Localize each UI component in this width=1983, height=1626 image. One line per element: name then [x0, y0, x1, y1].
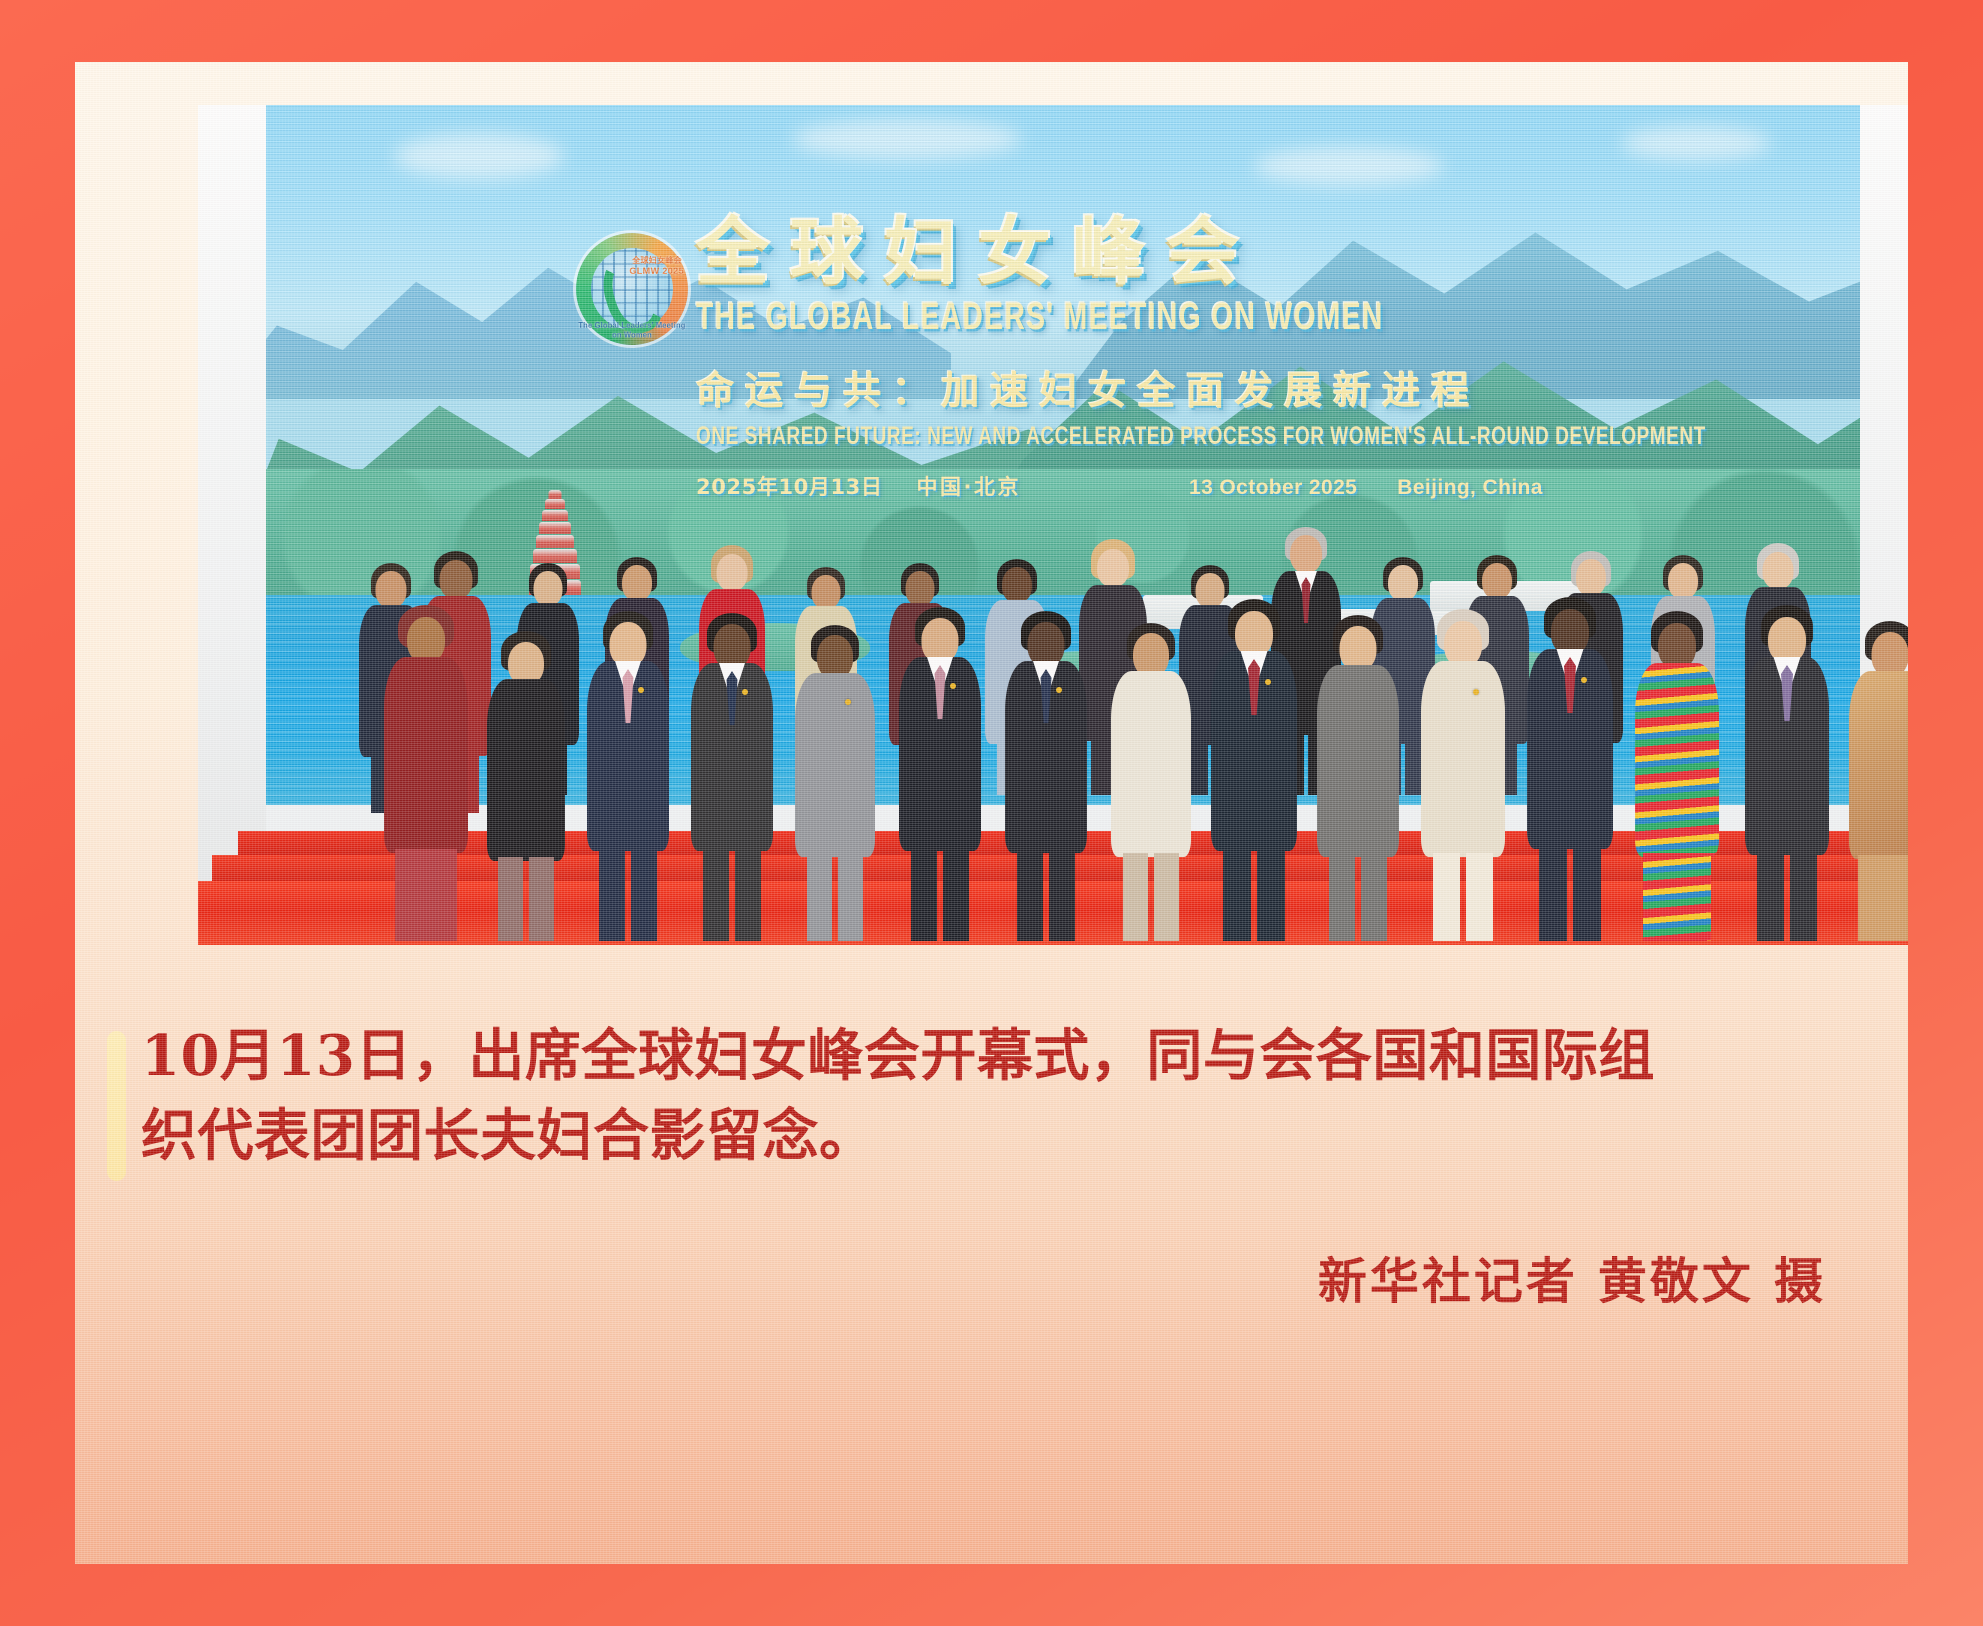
delegate-figure-front — [1210, 599, 1298, 941]
delegate-figure-front — [1848, 621, 1908, 941]
delegate-figure-front — [690, 613, 774, 941]
delegate-figure-front — [586, 611, 670, 941]
banner-date-zh: 2025年10月13日 — [696, 471, 883, 501]
delegate-figure-front — [1004, 611, 1088, 941]
photo-credit-byline: 新华社记者 黄敬文 摄 — [1318, 1242, 1826, 1313]
delegate-figure-front — [898, 607, 982, 941]
banner-subtitle-en: ONE SHARED FUTURE: NEW AND ACCELERATED P… — [696, 423, 1800, 452]
caption-accent-bar — [107, 1031, 126, 1181]
banner-subtitle-zh: 命运与共：加速妇女全面发展新进程 — [696, 360, 1800, 416]
emblem-arc-text: The Global Leaders' Meeting on Women — [576, 321, 688, 340]
delegate-figure-front — [486, 631, 566, 941]
delegate-figure-front — [1316, 615, 1400, 941]
emblem-en-mark: GLMW 2025 — [629, 266, 684, 276]
poster-card: 全球妇女峰会 GLMW 2025 The Global Leaders' Mee… — [75, 62, 1908, 1564]
delegate-figure-front — [1526, 597, 1614, 941]
cloud-shape — [1621, 126, 1771, 160]
banner-title-zh: 全球妇女峰会 — [696, 215, 1800, 290]
cloud-shape — [394, 133, 564, 179]
banner-place-en: Beijing, China — [1397, 476, 1543, 500]
banner-title-en: THE GLOBAL LEADERS' MEETING ON WOMEN — [696, 296, 1789, 340]
delegate-figure-front — [794, 625, 876, 941]
delegate-figure-front — [1744, 605, 1830, 941]
delegate-figure-front — [1420, 609, 1506, 941]
news-photograph: 全球妇女峰会 GLMW 2025 The Global Leaders' Mee… — [198, 105, 1908, 945]
banner-date-en: 13 October 2025 — [1189, 476, 1357, 500]
summit-emblem-logo: 全球妇女峰会 GLMW 2025 The Global Leaders' Mee… — [576, 233, 688, 345]
banner-date-row: 2025年10月13日 中国·北京 13 October 2025 Beijin… — [696, 471, 1800, 501]
caption-line-1: 10月13日，出席全球妇女峰会开幕式，同与会各国和国际组 — [141, 1017, 1828, 1097]
banner-text-block: 全球妇女峰会 THE GLOBAL LEADERS' MEETING ON WO… — [696, 215, 1800, 501]
caption-text: 10月13日，出席全球妇女峰会开幕式，同与会各国和国际组 织代表团团长夫妇合影留… — [141, 1017, 1828, 1176]
caption-line-2: 织代表团团长夫妇合影留念。 — [141, 1097, 1828, 1177]
emblem-zh-mark: 全球妇女峰会 — [632, 255, 682, 266]
delegate-figure-front — [1634, 611, 1720, 941]
cloud-shape — [792, 119, 1022, 159]
delegate-figure-front — [1110, 623, 1192, 941]
banner-place-zh: 中国·北京 — [917, 471, 1021, 501]
cloud-shape — [1254, 147, 1444, 185]
poster-root: 全球妇女峰会 GLMW 2025 The Global Leaders' Mee… — [0, 0, 1983, 1626]
delegate-figure-front — [383, 605, 469, 941]
